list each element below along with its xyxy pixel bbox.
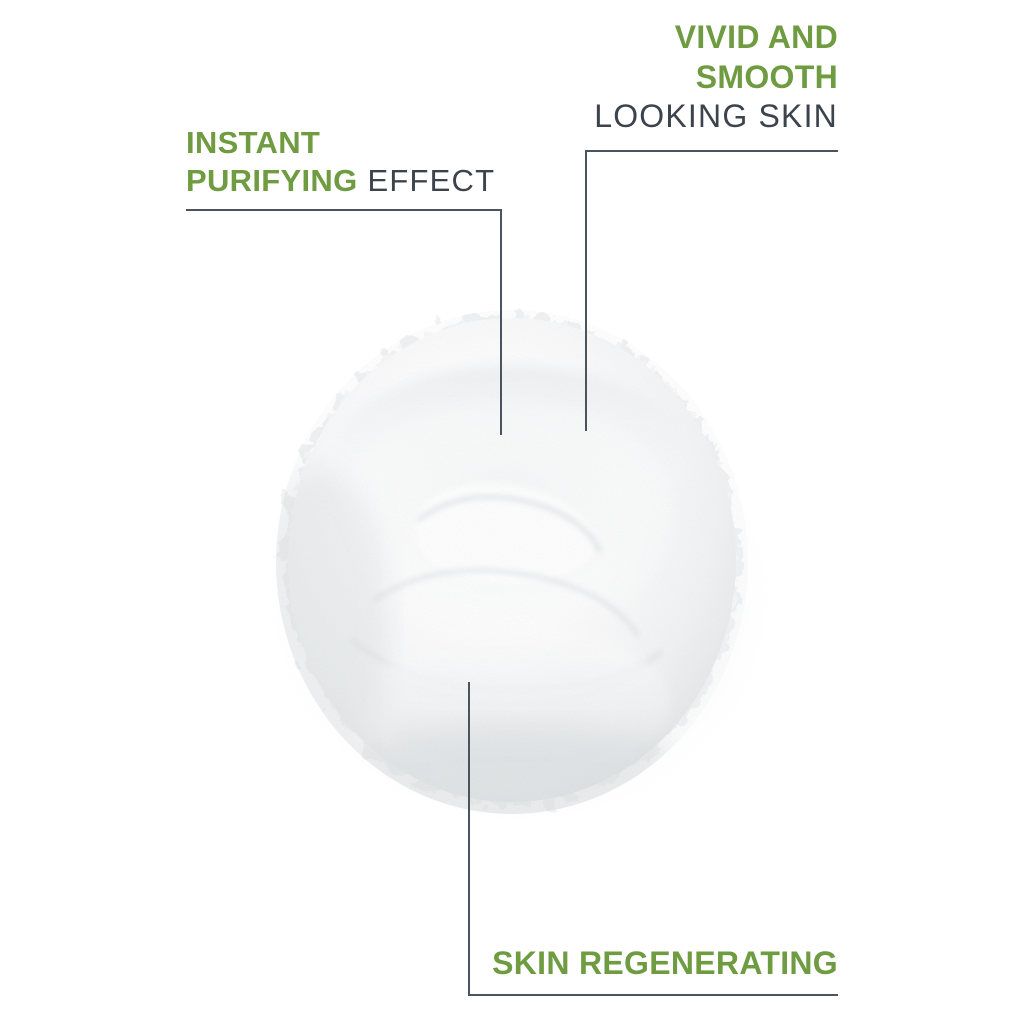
leader-line-vivid-horizontal <box>585 150 838 152</box>
callout-regenerating-line1: SKIN REGENERATING <box>492 946 838 981</box>
leader-line-purifying-vertical <box>500 209 502 435</box>
leader-line-purifying-horizontal <box>186 209 502 211</box>
callout-instant-purifying-effect: INSTANT PURIFYINGEFFECT <box>186 126 495 198</box>
leader-line-vivid-vertical <box>585 150 587 431</box>
callout-purifying-line1: INSTANT <box>186 126 495 159</box>
callout-purifying-line2: PURIFYINGEFFECT <box>186 164 495 197</box>
powder-mound-image <box>0 0 1024 1024</box>
callout-vivid-line2: SMOOTH <box>594 60 838 95</box>
leader-line-regenerating-vertical <box>468 682 470 996</box>
leader-line-regenerating-horizontal <box>468 994 838 996</box>
callout-vivid-line1: VIVID AND <box>594 20 838 55</box>
infographic-canvas: INSTANT PURIFYINGEFFECT VIVID AND SMOOTH… <box>0 0 1024 1024</box>
callout-vivid-line3: LOOKING SKIN <box>594 99 838 134</box>
callout-purifying-bold: PURIFYING <box>186 163 358 198</box>
callout-purifying-light: EFFECT <box>368 163 496 198</box>
callout-vivid-smooth-looking-skin: VIVID AND SMOOTH LOOKING SKIN <box>594 20 838 134</box>
callout-skin-regenerating: SKIN REGENERATING <box>492 946 838 981</box>
